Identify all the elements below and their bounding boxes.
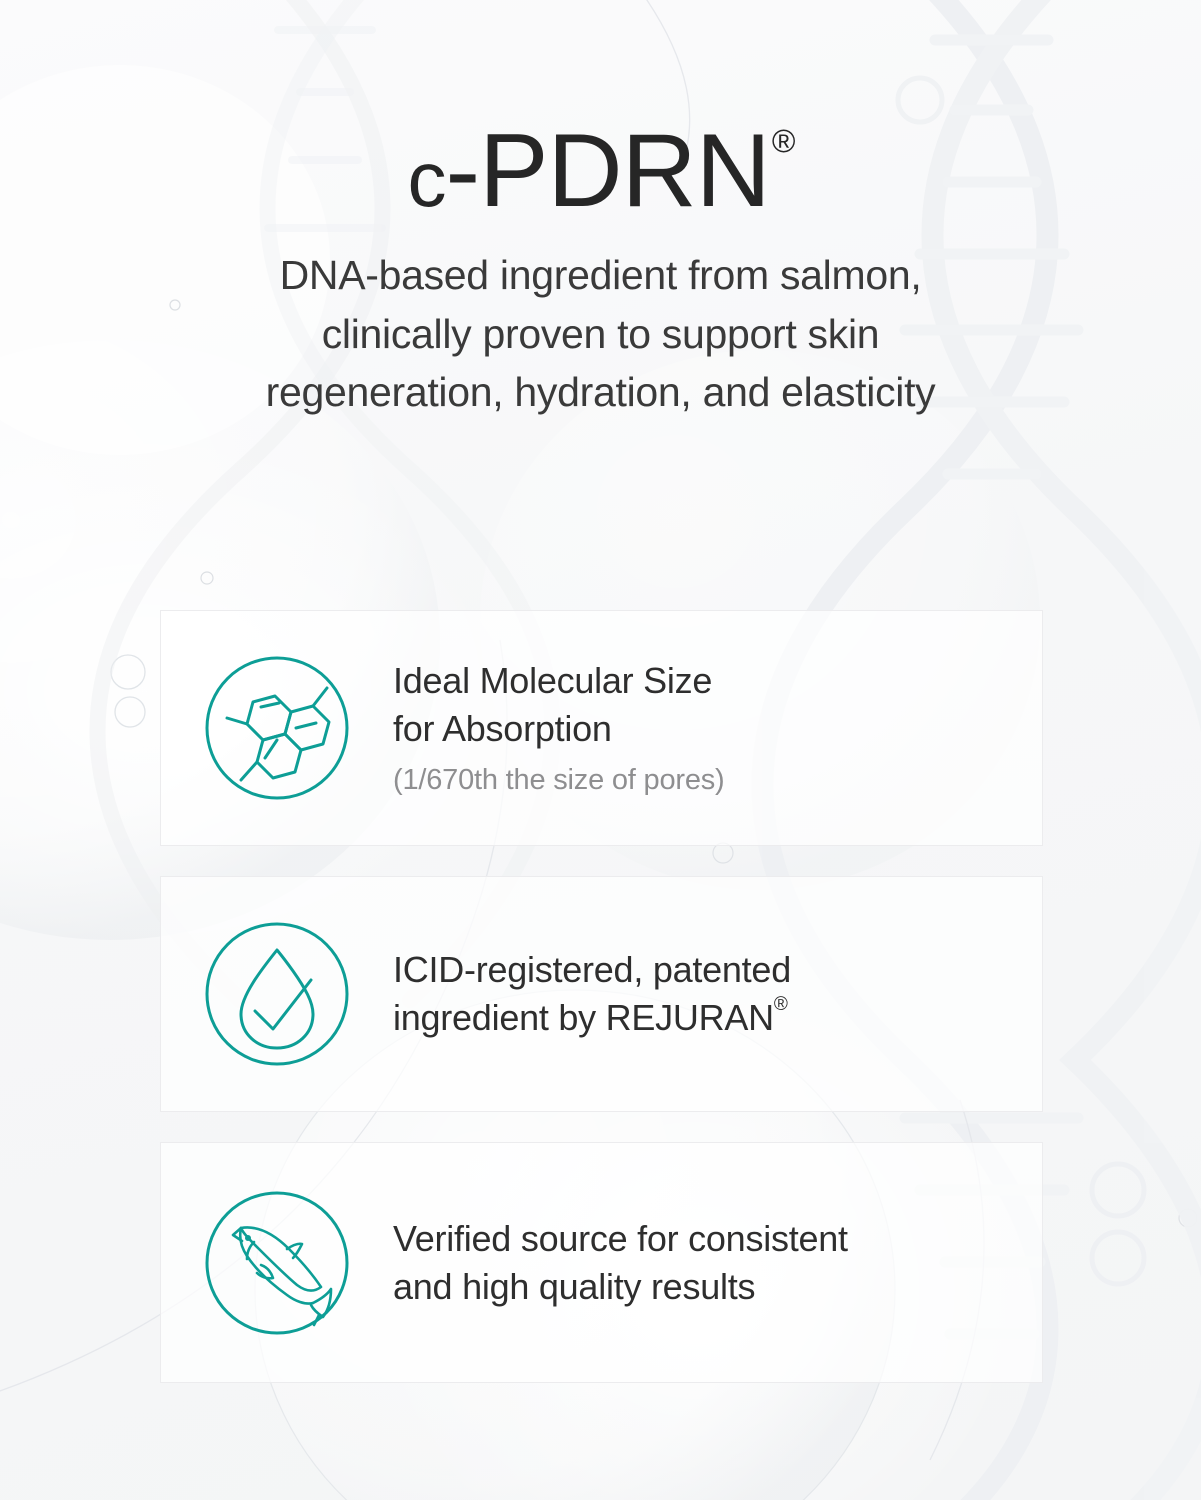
title-line-2: for Absorption xyxy=(393,705,1018,753)
feature-card-title: Verified source for consistent and high … xyxy=(393,1215,1018,1311)
feature-card-subtext: (1/670th the size of pores) xyxy=(393,762,1018,800)
registered-trademark-icon: ® xyxy=(774,994,788,1015)
feature-card-list: Ideal Molecular Size for Absorption (1/6… xyxy=(160,610,1043,1383)
subtitle-line-3: regeneration, hydration, and elasticity xyxy=(0,363,1201,422)
title-line-1: Ideal Molecular Size xyxy=(393,657,1018,705)
title-line-2-text: ingredient by REJURAN xyxy=(393,997,774,1038)
subtitle-line-1: DNA-based ingredient from salmon, xyxy=(0,246,1201,305)
feature-card-text: ICID-registered, patented ingredient by … xyxy=(393,946,1042,1042)
feature-card-verified-source: Verified source for consistent and high … xyxy=(160,1142,1043,1383)
feature-card-text: Ideal Molecular Size for Absorption (1/6… xyxy=(393,657,1042,799)
page-subtitle: DNA-based ingredient from salmon, clinic… xyxy=(0,224,1201,422)
title-line-2: and high quality results xyxy=(393,1263,1018,1311)
page-title: c-PDRN® xyxy=(0,0,1201,224)
feature-card-icid-registered: ICID-registered, patented ingredient by … xyxy=(160,876,1043,1112)
water-drop-check-icon xyxy=(161,918,393,1070)
subtitle-line-2: clinically proven to support skin xyxy=(0,305,1201,364)
title-line-1: ICID-registered, patented xyxy=(393,946,1018,994)
feature-card-title: ICID-registered, patented ingredient by … xyxy=(393,946,1018,1042)
brand-main: -PDRN xyxy=(446,113,770,229)
molecule-icon xyxy=(161,652,393,804)
fish-icon xyxy=(161,1187,393,1339)
feature-card-molecular-size: Ideal Molecular Size for Absorption (1/6… xyxy=(160,610,1043,846)
registered-trademark-icon: ® xyxy=(772,123,796,159)
ingredient-infographic-page: c-PDRN® DNA-based ingredient from salmon… xyxy=(0,0,1201,1500)
feature-card-title: Ideal Molecular Size for Absorption xyxy=(393,657,1018,753)
brand-prefix: c xyxy=(408,135,446,223)
title-line-2: ingredient by REJURAN® xyxy=(393,994,1018,1042)
title-line-1: Verified source for consistent xyxy=(393,1215,1018,1263)
page-header: c-PDRN® DNA-based ingredient from salmon… xyxy=(0,0,1201,422)
feature-card-text: Verified source for consistent and high … xyxy=(393,1215,1042,1311)
